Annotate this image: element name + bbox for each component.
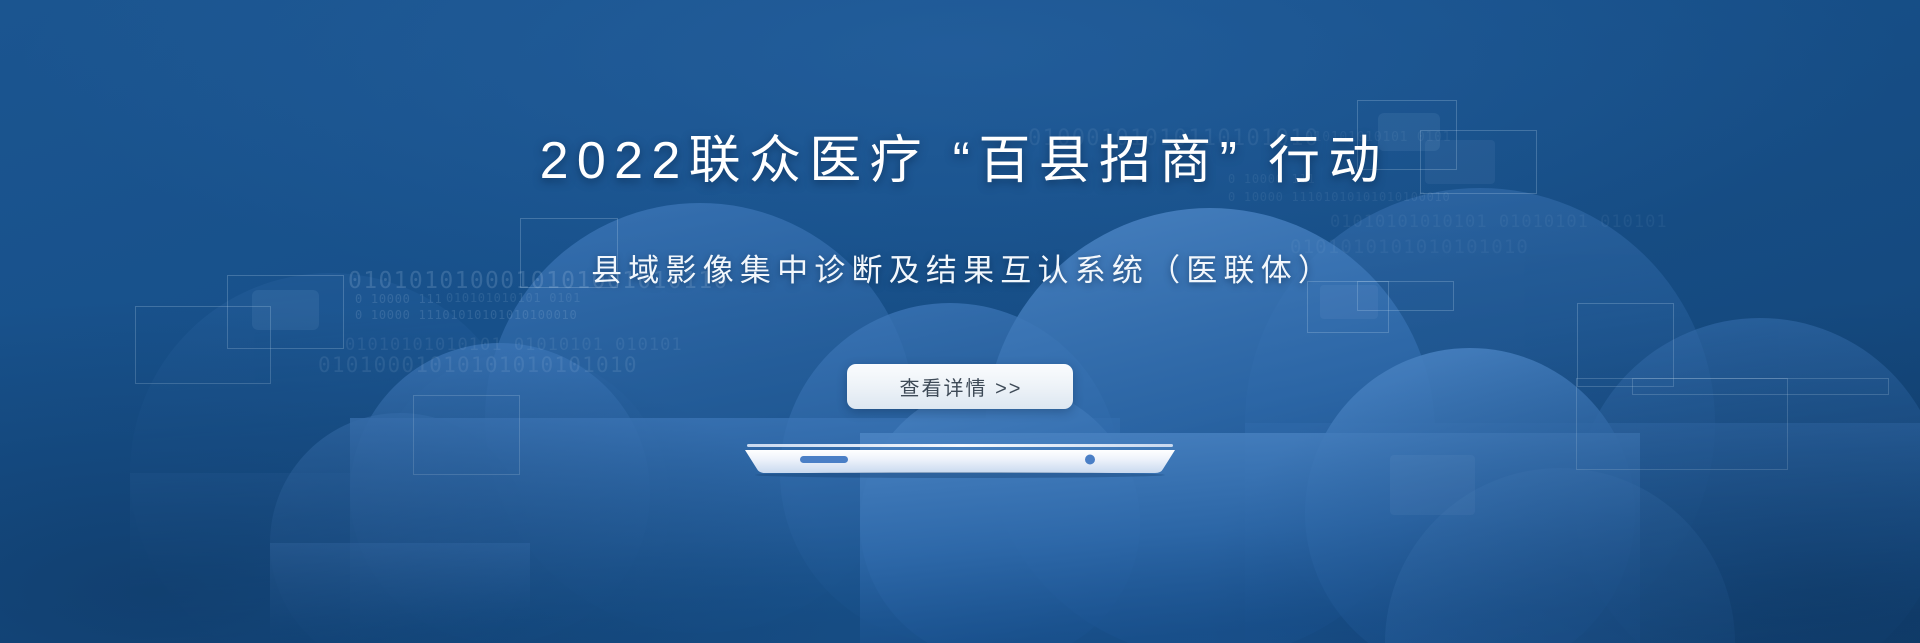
promo-banner: 0101010100010101001010110 0 10000 111 0 … [0,0,1920,643]
banner-title: 2022联众医疗 “百县招商” 行动 [0,129,1920,193]
banner-subtitle: 县域影像集中诊断及结果互认系统（医联体） [0,250,1920,292]
view-details-button[interactable]: 查看详情 >> [847,364,1073,409]
banner-content: 2022联众医疗 “百县招商” 行动 县域影像集中诊断及结果互认系统（医联体） … [0,0,1920,643]
cta-container: 查看详情 >> [0,364,1920,409]
